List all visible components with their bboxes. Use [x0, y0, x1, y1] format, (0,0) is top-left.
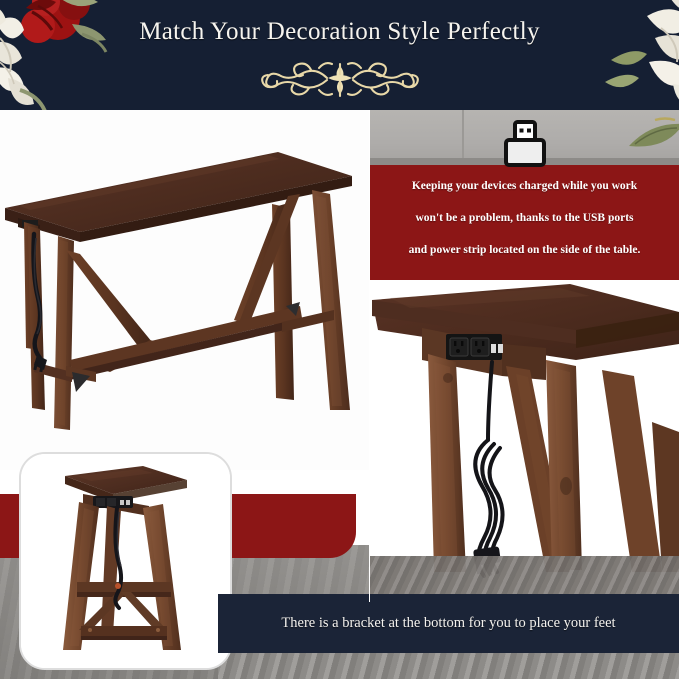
footer-caption-text: There is a bracket at the bottom for you…: [218, 594, 679, 653]
wall-seam: [462, 110, 464, 165]
usb-port-closeup-illustration: [370, 282, 679, 602]
header-banner: Match Your Decoration Style Perfectly: [0, 0, 679, 110]
usb-description-banner: Keeping your devices charged while you w…: [370, 165, 679, 282]
usb-banner-line-3: and power strip located on the side of t…: [370, 229, 679, 261]
promo-image-root: Match Your Decoration Style Perfectly: [0, 0, 679, 679]
usb-banner-line-2: won't be a problem, thanks to the USB po…: [370, 197, 679, 229]
bottom-floor-strip: [218, 653, 679, 679]
flourish-ornament-icon: [215, 58, 465, 102]
usb-port-closeup: [370, 282, 679, 602]
table-end-view-inset: [19, 452, 232, 670]
table-end-view-illustration: [21, 454, 230, 668]
usb-flash-drive-icon: [502, 120, 548, 168]
console-table-illustration: [0, 110, 369, 470]
usb-banner-line-1: Keeping your devices charged while you w…: [370, 165, 679, 197]
red-rose-white-lily-corner-icon: [0, 0, 131, 110]
page-title: Match Your Decoration Style Perfectly: [0, 18, 679, 46]
leaf-decor-icon: [625, 116, 679, 162]
white-flower-leaves-corner-icon: [577, 0, 679, 110]
panel-divider-vertical: [369, 110, 370, 602]
panel-divider-horizontal: [370, 280, 679, 282]
footer-caption-bar: There is a bracket at the bottom for you…: [218, 594, 679, 653]
console-table-full-view: [0, 110, 369, 470]
usb-callout-panel: Keeping your devices charged while you w…: [370, 110, 679, 282]
